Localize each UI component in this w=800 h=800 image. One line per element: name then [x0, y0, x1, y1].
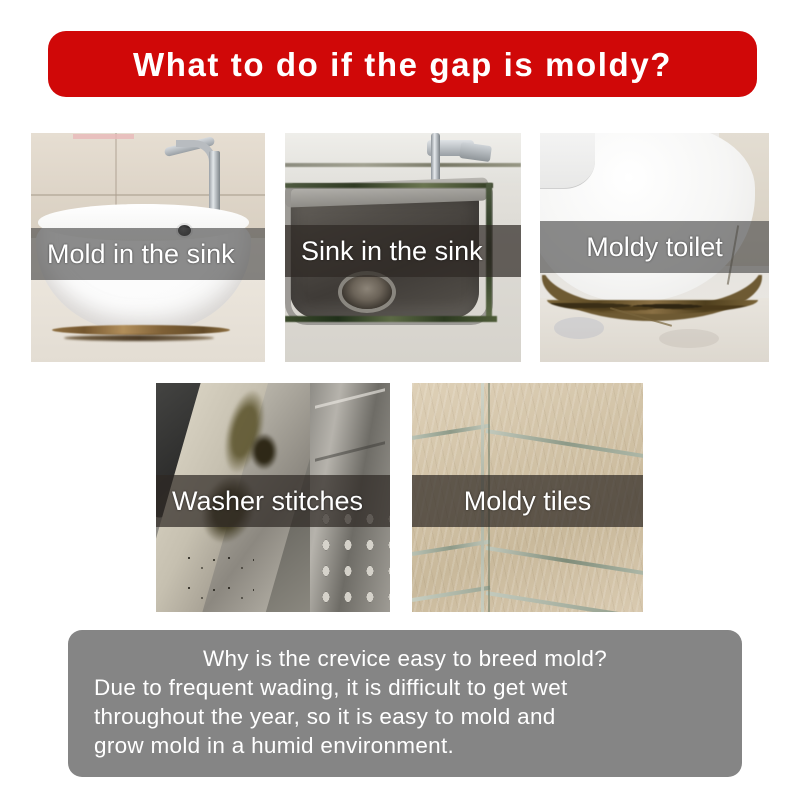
info-body-line-1: Due to frequent wading, it is difficult …: [94, 673, 716, 702]
info-heading: Why is the crevice easy to breed mold?: [94, 644, 716, 673]
gallery-card-sink-in-the-sink[interactable]: Sink in the sink: [285, 133, 521, 362]
mold-ring-shadow: [64, 335, 214, 341]
info-body-line-2: throughout the year, so it is easy to mo…: [94, 702, 716, 731]
gallery-card-washer-stitches[interactable]: Washer stitches: [156, 383, 390, 612]
backsplash-mold-line: [285, 163, 521, 167]
mold-seam-bottom: [285, 316, 497, 322]
banner-title: What to do if the gap is moldy?: [133, 48, 672, 81]
wall-pink-strip: [73, 134, 134, 139]
promo-page: What to do if the gap is moldy? Mold in …: [0, 0, 800, 800]
gallery-card-moldy-tiles[interactable]: Moldy tiles: [412, 383, 643, 612]
info-body-line-3: grow mold in a humid environment.: [94, 731, 716, 760]
mold-speckles: [184, 552, 254, 602]
caption-label: Washer stitches: [156, 488, 363, 515]
gallery-card-mold-in-the-sink[interactable]: Mold in the sink: [31, 133, 265, 362]
caption-bar: Sink in the sink: [285, 225, 521, 277]
title-banner: What to do if the gap is moldy?: [48, 31, 757, 97]
caption-bar: Mold in the sink: [31, 228, 265, 280]
caption-bar: Moldy tiles: [412, 475, 643, 527]
caption-label: Moldy tiles: [412, 488, 643, 515]
caption-bar: Washer stitches: [156, 475, 390, 527]
sink-drain: [342, 275, 392, 309]
mold-spot-dark: [250, 433, 278, 470]
gallery-card-moldy-toilet[interactable]: Moldy toilet: [540, 133, 769, 362]
caption-label: Mold in the sink: [31, 241, 235, 268]
info-panel: Why is the crevice easy to breed mold? D…: [68, 630, 742, 777]
caption-label: Moldy toilet: [540, 234, 769, 261]
caption-label: Sink in the sink: [285, 238, 483, 265]
caption-bar: Moldy toilet: [540, 221, 769, 273]
mold-seam-top: [285, 183, 493, 188]
